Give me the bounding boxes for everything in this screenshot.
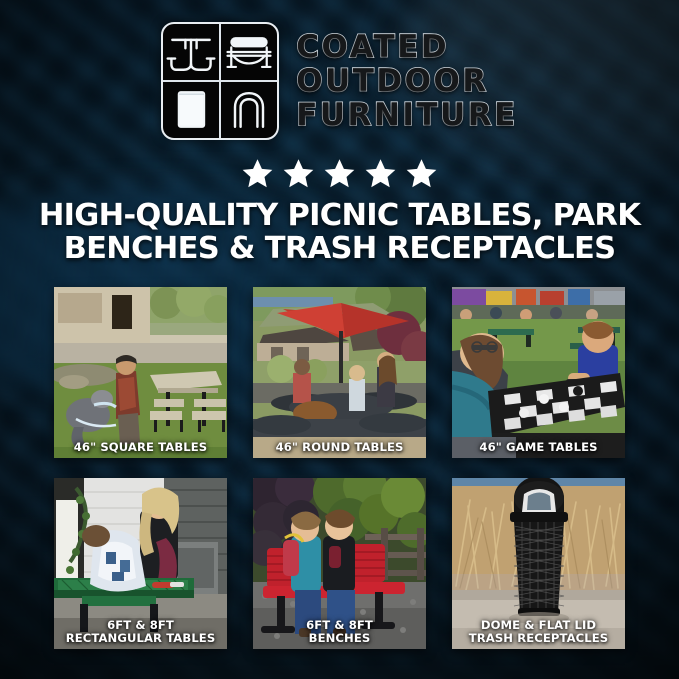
star-icon — [364, 157, 397, 190]
logo-wordmark: COATED OUTDOOR FURNITURE — [296, 31, 518, 132]
category-tile-label: 6FT & 8FT BENCHES — [255, 619, 424, 645]
category-tile-trash-receptacles[interactable]: DOME & FLAT LID TRASH RECEPTACLES — [452, 478, 625, 649]
category-tile-benches[interactable]: 6FT & 8FT BENCHES — [253, 478, 426, 649]
page-title: HIGH-QUALITY PICNIC TABLES, PARK BENCHES… — [34, 199, 645, 265]
promo-banner: COATED OUTDOOR FURNITURE HIGH-QUALITY PI… — [0, 0, 679, 679]
star-icon — [323, 157, 356, 190]
category-tile-round-tables[interactable]: 46" ROUND TABLES — [253, 287, 426, 458]
park-bench-icon — [220, 24, 277, 81]
logo-icon-grid — [161, 22, 279, 140]
rating-stars — [0, 157, 679, 190]
category-tile-label: 46" SQUARE TABLES — [56, 441, 225, 454]
category-tile-square-tables[interactable]: 46" SQUARE TABLES — [54, 287, 227, 458]
category-tile-label: 46" GAME TABLES — [454, 441, 623, 454]
brand-logo: COATED OUTDOOR FURNITURE — [0, 22, 679, 140]
headline-line-2: BENCHES & TRASH RECEPTACLES — [34, 232, 645, 265]
logo-word-coated: COATED — [296, 31, 518, 64]
headline-line-1: HIGH-QUALITY PICNIC TABLES, PARK — [39, 198, 640, 233]
category-tile-label: 46" ROUND TABLES — [255, 441, 424, 454]
picnic-table-icon — [163, 24, 220, 81]
star-icon — [241, 157, 274, 190]
category-tile-label: 6FT & 8FT RECTANGULAR TABLES — [56, 619, 225, 645]
category-tile-label: DOME & FLAT LID TRASH RECEPTACLES — [454, 619, 623, 645]
star-icon — [282, 157, 315, 190]
logo-word-furniture: FURNITURE — [296, 99, 518, 132]
category-photo-square-tables — [54, 287, 227, 458]
category-tile-rectangular-tables[interactable]: 6FT & 8FT RECTANGULAR TABLES — [54, 478, 227, 649]
trash-receptacle-icon — [163, 81, 220, 138]
bike-rack-icon — [220, 81, 277, 138]
category-photo-game-tables — [452, 287, 625, 458]
product-category-grid: 46" SQUARE TABLES — [54, 287, 625, 649]
category-tile-game-tables[interactable]: 46" GAME TABLES — [452, 287, 625, 458]
category-photo-round-tables — [253, 287, 426, 458]
logo-word-outdoor: OUTDOOR — [296, 65, 518, 98]
star-icon — [405, 157, 438, 190]
